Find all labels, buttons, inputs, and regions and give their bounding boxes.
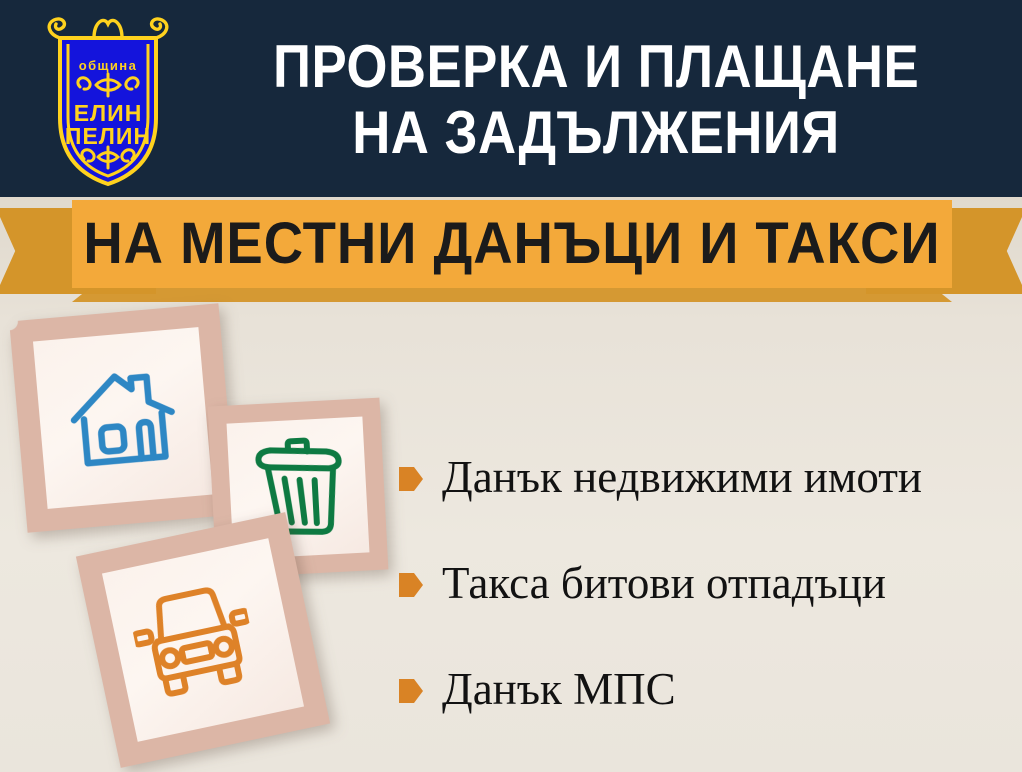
tax-type-list: Данък недвижими имоти Такса битови отпад… bbox=[398, 424, 1012, 742]
ribbon-label: НА МЕСТНИ ДАНЪЦИ И ТАКСИ bbox=[83, 215, 940, 273]
poster-canvas: община ЕЛИН ПЕЛИН bbox=[0, 0, 1022, 772]
arrow-bullet-icon bbox=[398, 570, 424, 600]
list-item-label: Данък МПС bbox=[442, 665, 676, 713]
list-item-label: Данък недвижими имоти bbox=[442, 453, 922, 501]
svg-text:ПЕЛИН: ПЕЛИН bbox=[65, 123, 151, 149]
list-item-label: Такса битови отпадъци bbox=[442, 559, 886, 607]
ribbon-main: НА МЕСТНИ ДАНЪЦИ И ТАКСИ bbox=[72, 200, 952, 288]
ribbon-banner: НА МЕСТНИ ДАНЪЦИ И ТАКСИ bbox=[0, 196, 1022, 308]
stamp-card-car bbox=[76, 512, 330, 768]
header-bar: община ЕЛИН ПЕЛИН bbox=[0, 0, 1022, 197]
svg-text:община: община bbox=[79, 58, 137, 73]
municipality-logo: община ЕЛИН ПЕЛИН bbox=[38, 8, 178, 190]
title-line-2: НА ЗАДЪЛЖЕНИЯ bbox=[352, 100, 839, 166]
house-icon bbox=[63, 355, 182, 476]
page-title: ПРОВЕРКА И ПЛАЩАНЕ НА ЗАДЪЛЖЕНИЯ bbox=[186, 20, 1006, 180]
arrow-bullet-icon bbox=[398, 464, 424, 494]
title-line-1: ПРОВЕРКА И ПЛАЩАНЕ bbox=[273, 34, 919, 100]
list-item[interactable]: Данък недвижими имоти bbox=[398, 424, 1012, 530]
list-item[interactable]: Такса битови отпадъци bbox=[398, 530, 1012, 636]
stamp-card-house bbox=[9, 303, 237, 532]
list-item[interactable]: Данък МПС bbox=[398, 636, 1012, 742]
ribbon-shadow bbox=[72, 288, 952, 302]
arrow-bullet-icon bbox=[398, 676, 424, 706]
